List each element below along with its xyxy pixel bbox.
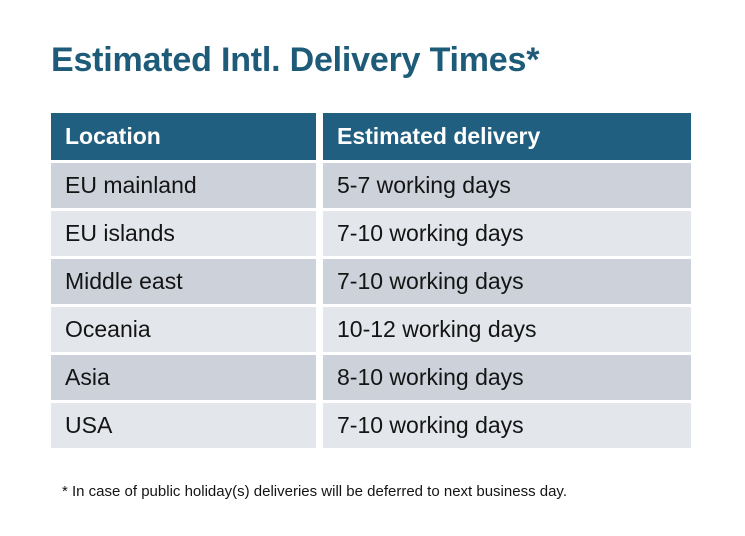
page-title: Estimated Intl. Delivery Times* (51, 36, 711, 84)
delivery-times-table: Location Estimated delivery EU mainland … (51, 113, 691, 451)
cell-location: EU mainland (51, 163, 316, 208)
cell-location: USA (51, 403, 316, 448)
column-header-estimated-delivery: Estimated delivery (323, 113, 691, 160)
cell-location: Asia (51, 355, 316, 400)
cell-location: Middle east (51, 259, 316, 304)
cell-estimated-delivery: 10-12 working days (323, 307, 691, 352)
cell-estimated-delivery: 7-10 working days (323, 211, 691, 256)
cell-estimated-delivery: 7-10 working days (323, 403, 691, 448)
table-row: Asia 8-10 working days (51, 355, 691, 400)
column-header-location: Location (51, 113, 316, 160)
table-row: Middle east 7-10 working days (51, 259, 691, 304)
cell-location: EU islands (51, 211, 316, 256)
table-row: Oceania 10-12 working days (51, 307, 691, 352)
table-header-row: Location Estimated delivery (51, 113, 691, 160)
table-row: USA 7-10 working days (51, 403, 691, 448)
cell-estimated-delivery: 8-10 working days (323, 355, 691, 400)
footnote-text: * In case of public holiday(s) deliverie… (62, 482, 722, 502)
cell-estimated-delivery: 7-10 working days (323, 259, 691, 304)
table-row: EU islands 7-10 working days (51, 211, 691, 256)
cell-location: Oceania (51, 307, 316, 352)
delivery-times-page: Estimated Intl. Delivery Times* Location… (0, 0, 745, 536)
cell-estimated-delivery: 5-7 working days (323, 163, 691, 208)
table-row: EU mainland 5-7 working days (51, 163, 691, 208)
